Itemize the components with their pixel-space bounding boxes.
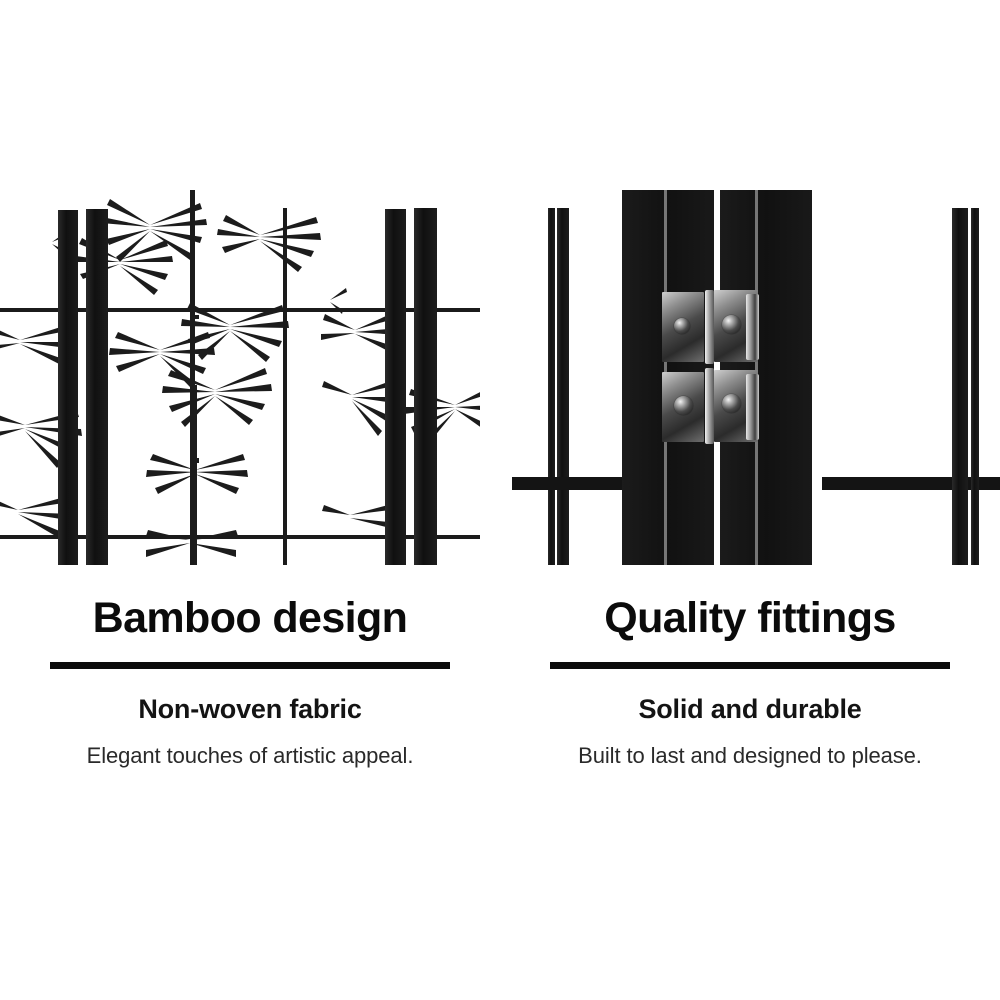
frame-slat-far-left-a — [548, 208, 555, 565]
frame-slat-far-left-b — [557, 208, 569, 565]
hinge-assembly — [662, 290, 766, 450]
feature-images — [0, 190, 1000, 565]
screen-gridline-vertical-right — [283, 208, 287, 565]
hinge-screw-upper-right — [722, 315, 741, 334]
feature-block-bamboo-design: Bamboo design Non-woven fabric Elegant t… — [0, 565, 500, 767]
feature-captions: Bamboo design Non-woven fabric Elegant t… — [0, 565, 1000, 815]
feature-subtitle: Solid and durable — [500, 696, 1000, 723]
title-underline-rule — [550, 662, 950, 669]
feature-block-quality-fittings: Quality fittings Solid and durable Built… — [500, 565, 1000, 767]
hinge-pin-upper — [705, 290, 714, 364]
hinge-knuckle-lower — [746, 374, 759, 440]
frame-slat-far-right-a — [952, 208, 968, 565]
screen-gridline-vertical-center — [190, 190, 194, 565]
hinge-screw-lower-left — [674, 396, 693, 415]
bamboo-design-image — [0, 190, 480, 565]
feature-body-text: Elegant touches of artistic appeal. — [0, 745, 500, 767]
feature-body-text: Built to last and designed to please. — [500, 745, 1000, 767]
frame-slat-right-inner — [385, 209, 406, 565]
frame-slat-left-inner — [58, 210, 78, 565]
feature-subtitle: Non-woven fabric — [0, 696, 500, 723]
frame-slat-far-right-b — [971, 208, 979, 565]
hinge-knuckle-upper — [746, 294, 759, 360]
quality-fittings-image — [512, 190, 1000, 565]
hinge-screw-lower-right — [722, 394, 741, 413]
hinge-pin-lower — [705, 368, 714, 444]
hinge-screw-upper-left — [674, 318, 690, 334]
feature-title: Quality fittings — [500, 597, 1000, 640]
feature-title: Bamboo design — [0, 597, 500, 640]
frame-slat-right-outer — [414, 208, 437, 565]
product-feature-banner: Bamboo design Non-woven fabric Elegant t… — [0, 0, 1000, 1000]
title-underline-rule — [50, 662, 450, 669]
frame-slat-left-outer — [86, 209, 108, 565]
